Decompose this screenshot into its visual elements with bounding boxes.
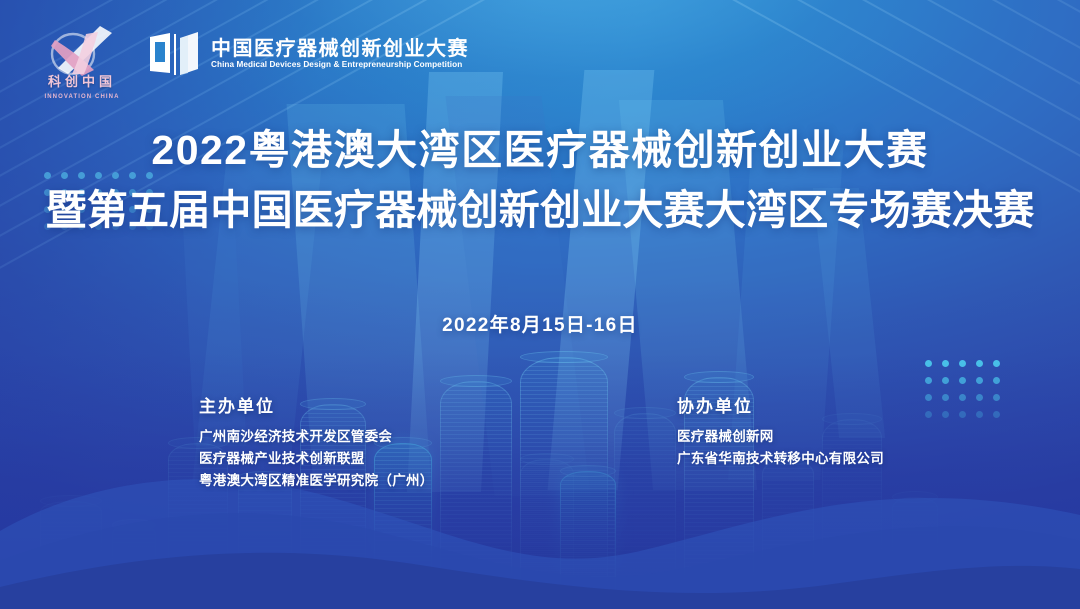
innovation-china-en-text: INNOVATION CHINA <box>38 94 126 100</box>
event-date: 2022年8月15日-16日 <box>0 310 1080 337</box>
host-item: 广州南沙经济技术开发区管委会 <box>199 426 434 448</box>
innovation-china-logo: 科创中国 INNOVATION CHINA <box>38 24 126 100</box>
title-line-1: 2022粤港澳大湾区医疗器械创新创业大赛 <box>0 128 1080 172</box>
bottom-wave-decoration <box>0 419 1080 609</box>
coorganizer-block: 协办单位 医疗器械创新网 广东省华南技术转移中心有限公司 <box>677 392 884 470</box>
host-organizer-block: 主办单位 广州南沙经济技术开发区管委会 医疗器械产业技术创新联盟 粤港澳大湾区精… <box>199 392 434 492</box>
open-book-door-icon <box>148 31 200 77</box>
host-item: 医疗器械产业技术创新联盟 <box>199 448 434 470</box>
title-line-2: 暨第五届中国医疗器械创新创业大赛大湾区专场赛决赛 <box>0 188 1080 232</box>
coorganizer-item: 广东省华南技术转移中心有限公司 <box>677 448 884 470</box>
innovation-china-cn-text: 科创中国 <box>38 71 126 90</box>
host-item: 粤港澳大湾区精准医学研究院（广州） <box>199 470 434 492</box>
innovation-china-bird-icon <box>42 24 120 78</box>
coorganizer-item: 医疗器械创新网 <box>677 426 884 448</box>
competition-logo: 中国医疗器械创新创业大赛 China Medical Devices Desig… <box>148 31 469 77</box>
competition-cn-title: 中国医疗器械创新创业大赛 <box>211 39 469 59</box>
host-heading: 主办单位 <box>199 392 434 417</box>
coorganizer-heading: 协办单位 <box>677 392 884 417</box>
competition-en-title: China Medical Devices Design & Entrepren… <box>211 61 469 69</box>
event-banner: 科创中国 INNOVATION CHINA 中国医疗器械创新创业大赛 China… <box>0 0 1080 609</box>
main-title-block: 2022粤港澳大湾区医疗器械创新创业大赛 暨第五届中国医疗器械创新创业大赛大湾区… <box>0 128 1080 233</box>
header-logos: 科创中国 INNOVATION CHINA 中国医疗器械创新创业大赛 China… <box>38 24 469 100</box>
